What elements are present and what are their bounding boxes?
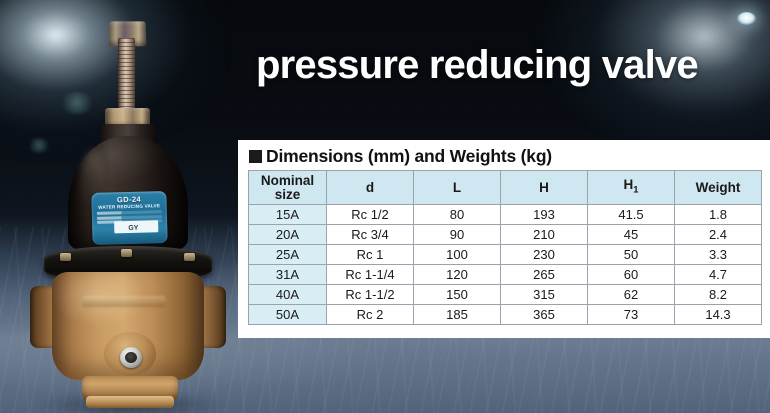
cell-h1: 60 bbox=[588, 265, 675, 285]
column-header-h1: H1 bbox=[588, 171, 675, 205]
cell-h: 365 bbox=[501, 305, 588, 325]
cell-h: 315 bbox=[501, 285, 588, 305]
adjusting-screw-thread bbox=[118, 38, 135, 114]
lamp-glow-icon bbox=[737, 12, 756, 25]
table-row: 31A Rc 1-1/4 120 265 60 4.7 bbox=[249, 265, 762, 285]
column-header-h1-subscript: 1 bbox=[633, 185, 638, 196]
column-header-l: L bbox=[414, 171, 501, 205]
cell-l: 80 bbox=[414, 205, 501, 225]
cell-d: Rc 1/2 bbox=[327, 205, 414, 225]
flange-bolt bbox=[60, 253, 71, 261]
product-photo-valve: GD-24 WATER REDUCING VALVE GY bbox=[8, 10, 238, 413]
table-row: 20A Rc 3/4 90 210 45 2.4 bbox=[249, 225, 762, 245]
cell-weight: 1.8 bbox=[675, 205, 762, 225]
cell-nominal: 50A bbox=[249, 305, 327, 325]
cell-d: Rc 1-1/2 bbox=[327, 285, 414, 305]
filled-square-bullet-icon bbox=[249, 150, 262, 163]
cell-nominal: 25A bbox=[249, 245, 327, 265]
table-header-row: Nominal size d L H H1 Weight bbox=[249, 171, 762, 205]
cell-d: Rc 1 bbox=[327, 245, 414, 265]
column-header-nominal-size: Nominal size bbox=[249, 171, 327, 205]
column-header-h: H bbox=[501, 171, 588, 205]
cell-l: 150 bbox=[414, 285, 501, 305]
page-title: pressure reducing valve bbox=[256, 42, 698, 88]
nameplate-mark: GY bbox=[128, 225, 138, 232]
cell-l: 90 bbox=[414, 225, 501, 245]
cell-h: 210 bbox=[501, 225, 588, 245]
column-header-h1-base: H bbox=[623, 177, 633, 192]
cell-nominal: 15A bbox=[249, 205, 327, 225]
flange-bolt bbox=[121, 249, 132, 257]
cell-h: 230 bbox=[501, 245, 588, 265]
column-header-weight: Weight bbox=[675, 171, 762, 205]
column-header-nominal-line2: size bbox=[275, 187, 301, 202]
gauge-port-hole bbox=[125, 352, 137, 363]
cell-weight: 4.7 bbox=[675, 265, 762, 285]
cell-nominal: 20A bbox=[249, 225, 327, 245]
table-row: 50A Rc 2 185 365 73 14.3 bbox=[249, 305, 762, 325]
cell-d: Rc 1-1/4 bbox=[327, 265, 414, 285]
cell-nominal: 31A bbox=[249, 265, 327, 285]
body-embossed-text bbox=[82, 296, 166, 307]
cell-h1: 73 bbox=[588, 305, 675, 325]
cell-h1: 50 bbox=[588, 245, 675, 265]
specification-panel: Dimensions (mm) and Weights (kg) Nominal… bbox=[238, 140, 770, 338]
cell-nominal: 40A bbox=[249, 285, 327, 305]
nameplate-type: WATER REDUCING VALVE bbox=[96, 203, 163, 211]
promo-banner: GD-24 WATER REDUCING VALVE GY pressure r… bbox=[0, 0, 770, 413]
cell-l: 120 bbox=[414, 265, 501, 285]
cell-l: 185 bbox=[414, 305, 501, 325]
cell-weight: 3.3 bbox=[675, 245, 762, 265]
cell-h1: 45 bbox=[588, 225, 675, 245]
dimensions-table: Nominal size d L H H1 Weight 15A Rc 1/2 … bbox=[248, 170, 762, 325]
specification-heading-text: Dimensions (mm) and Weights (kg) bbox=[266, 147, 552, 165]
cell-weight: 14.3 bbox=[675, 305, 762, 325]
table-row: 25A Rc 1 100 230 50 3.3 bbox=[249, 245, 762, 265]
flange-bolt bbox=[184, 253, 195, 261]
cell-l: 100 bbox=[414, 245, 501, 265]
specification-heading: Dimensions (mm) and Weights (kg) bbox=[249, 147, 760, 165]
cell-d: Rc 3/4 bbox=[327, 225, 414, 245]
column-header-nominal-line1: Nominal bbox=[261, 173, 314, 188]
column-header-d: d bbox=[327, 171, 414, 205]
cell-h1: 62 bbox=[588, 285, 675, 305]
product-nameplate: GD-24 WATER REDUCING VALVE GY bbox=[91, 191, 167, 245]
table-row: 40A Rc 1-1/2 150 315 62 8.2 bbox=[249, 285, 762, 305]
cell-weight: 8.2 bbox=[675, 285, 762, 305]
cell-h: 193 bbox=[501, 205, 588, 225]
cell-h1: 41.5 bbox=[588, 205, 675, 225]
cell-weight: 2.4 bbox=[675, 225, 762, 245]
table-row: 15A Rc 1/2 80 193 41.5 1.8 bbox=[249, 205, 762, 225]
body-bottom-lip bbox=[86, 396, 174, 408]
cell-h: 265 bbox=[501, 265, 588, 285]
cell-d: Rc 2 bbox=[327, 305, 414, 325]
